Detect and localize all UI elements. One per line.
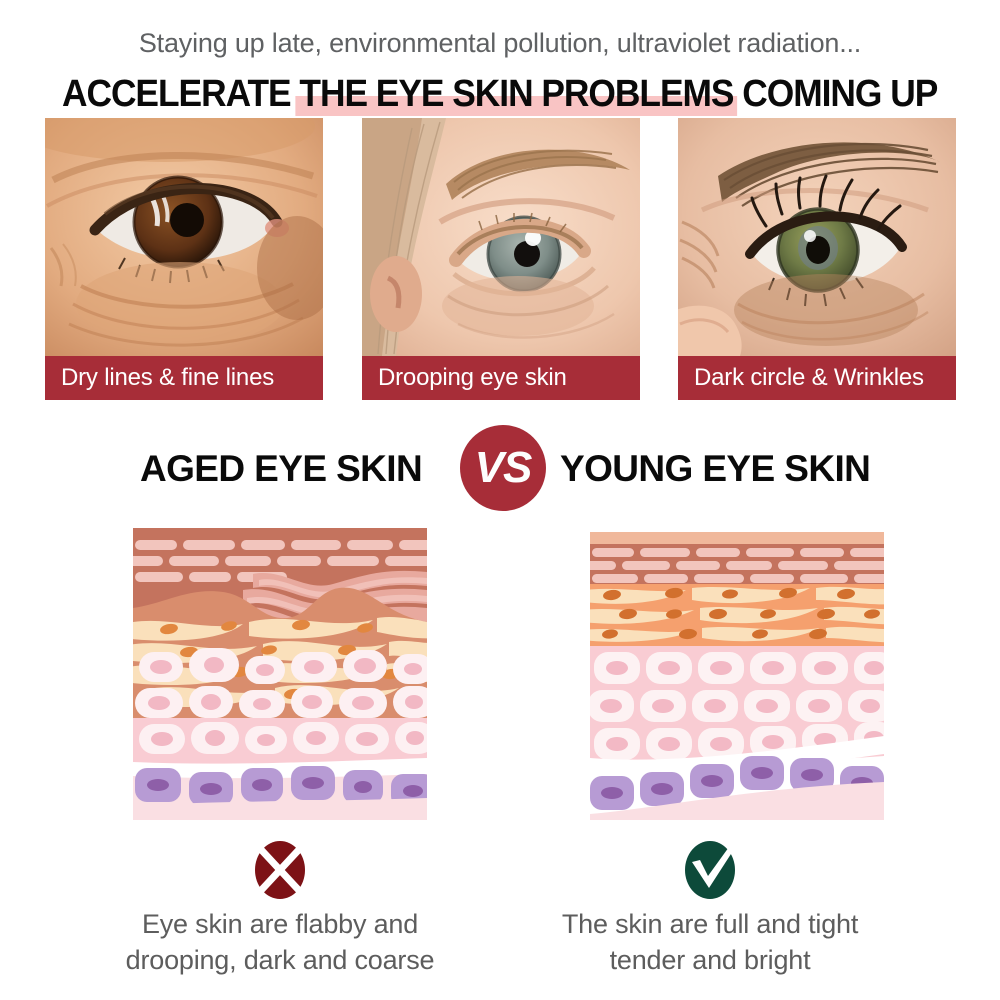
cross-icon-svg <box>248 838 312 902</box>
eye-illustration-3 <box>678 118 956 356</box>
photo-row: Dry lines & fine lines <box>0 118 1000 400</box>
headline-highlight: THE EYE SKIN PROBLEMS <box>300 70 734 118</box>
eye-illustration-2 <box>362 118 640 356</box>
young-skin-diagram <box>590 528 884 820</box>
eye-photo-dry-lines <box>45 118 323 356</box>
headline-wrap: ACCELERATE THE EYE SKIN PROBLEMS COMING … <box>0 70 1000 118</box>
eye-photo-drooping <box>362 118 640 356</box>
aged-skin-cross-section-svg <box>133 528 427 820</box>
photo-caption: Drooping eye skin <box>362 356 640 400</box>
headline-pre: ACCELERATE <box>62 73 299 115</box>
verdict-line-2: tender and bright <box>500 942 920 978</box>
aged-skin-diagram <box>133 528 427 820</box>
photo-card-dry-lines[interactable]: Dry lines & fine lines <box>45 118 323 400</box>
aged-eye-skin-title: AGED EYE SKIN <box>140 425 460 513</box>
check-icon-svg <box>678 838 742 902</box>
verdict-line-1: The skin are full and tight <box>500 906 920 942</box>
photo-card-drooping[interactable]: Drooping eye skin <box>362 118 640 400</box>
headline-post: COMING UP <box>734 73 938 115</box>
photo-card-dark-circle[interactable]: Dark circle & Wrinkles <box>678 118 956 400</box>
eye-photo-dark-circle <box>678 118 956 356</box>
verdict-aged: Eye skin are flabby and drooping, dark a… <box>70 838 490 978</box>
verdict-line-2: drooping, dark and coarse <box>70 942 490 978</box>
eye-illustration-1 <box>45 118 323 356</box>
check-icon <box>678 838 742 902</box>
photo-caption: Dark circle & Wrinkles <box>678 356 956 400</box>
subtitle: Staying up late, environmental pollution… <box>0 28 1000 59</box>
cross-icon <box>248 838 312 902</box>
verdict-young: The skin are full and tight tender and b… <box>500 838 920 978</box>
page-title: ACCELERATE THE EYE SKIN PROBLEMS COMING … <box>62 70 937 118</box>
verdict-line-1: Eye skin are flabby and <box>70 906 490 942</box>
vs-badge: VS <box>460 425 546 511</box>
young-skin-cross-section-svg <box>590 528 884 820</box>
photo-caption: Dry lines & fine lines <box>45 356 323 400</box>
young-eye-skin-title: YOUNG EYE SKIN <box>560 425 900 513</box>
infographic-page: Staying up late, environmental pollution… <box>0 0 1000 1000</box>
